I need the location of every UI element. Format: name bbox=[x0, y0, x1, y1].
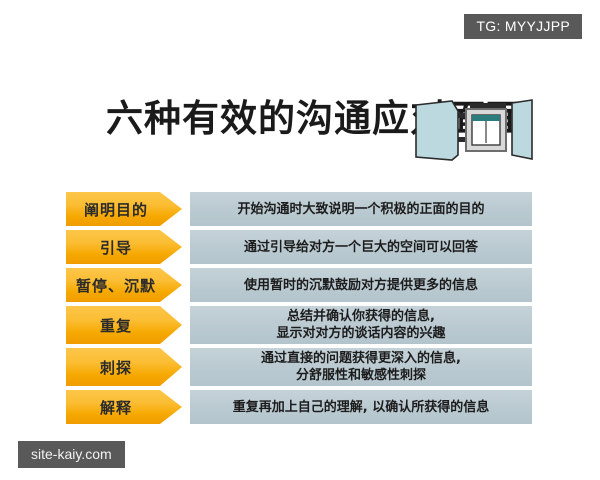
description-line: 总结并确认你获得的信息, bbox=[276, 308, 445, 325]
tactic-description-panel: 通过引导给对方一个巨大的空间可以回答 bbox=[190, 230, 532, 264]
table-row: 刺探 通过直接的问题获得更深入的信息, 分舒服性和敏感性刺探 bbox=[0, 348, 600, 386]
monitor-top-shade bbox=[470, 103, 506, 108]
description-line: 开始沟通时大致说明一个积极的正面的目的 bbox=[237, 201, 484, 218]
tactic-label-arrow: 暂停、沉默 bbox=[66, 268, 182, 302]
tactic-label-arrow: 刺探 bbox=[66, 348, 182, 386]
slide-canvas: TG: MYYJJPP 六种有效的沟通应对面面 阐明目的 bbox=[0, 0, 600, 480]
tactic-description-panel: 开始沟通时大致说明一个积极的正面的目的 bbox=[190, 192, 532, 226]
description-line: 重复再加上自己的理解, 以确认所获得的信息 bbox=[233, 399, 489, 416]
monitor-screen-bar bbox=[472, 115, 500, 121]
table-row: 解释 重复再加上自己的理解, 以确认所获得的信息 bbox=[0, 390, 600, 424]
table-row: 阐明目的 开始沟通时大致说明一个积极的正面的目的 bbox=[0, 192, 600, 226]
tactic-label-arrow: 引导 bbox=[66, 230, 182, 264]
tg-tag-badge: TG: MYYJJPP bbox=[464, 14, 582, 39]
table-row: 引导 通过引导给对方一个巨大的空间可以回答 bbox=[0, 230, 600, 264]
communication-tactics-list: 阐明目的 开始沟通时大致说明一个积极的正面的目的 引导 通过引导给对方一个巨大的… bbox=[0, 192, 600, 428]
title-area: 六种有效的沟通应对面面 bbox=[0, 95, 600, 165]
table-row: 暂停、沉默 使用暂时的沉默鼓励对方提供更多的信息 bbox=[0, 268, 600, 302]
left-panel-shape bbox=[416, 101, 458, 160]
tactic-label-arrow: 重复 bbox=[66, 306, 182, 344]
description-line: 使用暂时的沉默鼓励对方提供更多的信息 bbox=[244, 277, 478, 294]
site-watermark: site-kaiy.com bbox=[18, 441, 125, 468]
description-line: 分舒服性和敏感性刺探 bbox=[261, 367, 461, 384]
tactic-description-panel: 重复再加上自己的理解, 以确认所获得的信息 bbox=[190, 390, 532, 424]
right-panel-shape bbox=[512, 100, 532, 159]
description-line: 通过直接的问题获得更深入的信息, bbox=[261, 350, 461, 367]
tactic-description-panel: 总结并确认你获得的信息, 显示对对方的谈话内容的兴趣 bbox=[190, 306, 532, 344]
window-screen-graphic bbox=[414, 97, 534, 163]
description-line: 通过引导给对方一个巨大的空间可以回答 bbox=[244, 239, 478, 256]
tactic-label-arrow: 解释 bbox=[66, 390, 182, 424]
table-row: 重复 总结并确认你获得的信息, 显示对对方的谈话内容的兴趣 bbox=[0, 306, 600, 344]
tactic-description-panel: 使用暂时的沉默鼓励对方提供更多的信息 bbox=[190, 268, 532, 302]
tactic-label-arrow: 阐明目的 bbox=[66, 192, 182, 226]
tactic-description-panel: 通过直接的问题获得更深入的信息, 分舒服性和敏感性刺探 bbox=[190, 348, 532, 386]
description-line: 显示对对方的谈话内容的兴趣 bbox=[276, 325, 445, 342]
